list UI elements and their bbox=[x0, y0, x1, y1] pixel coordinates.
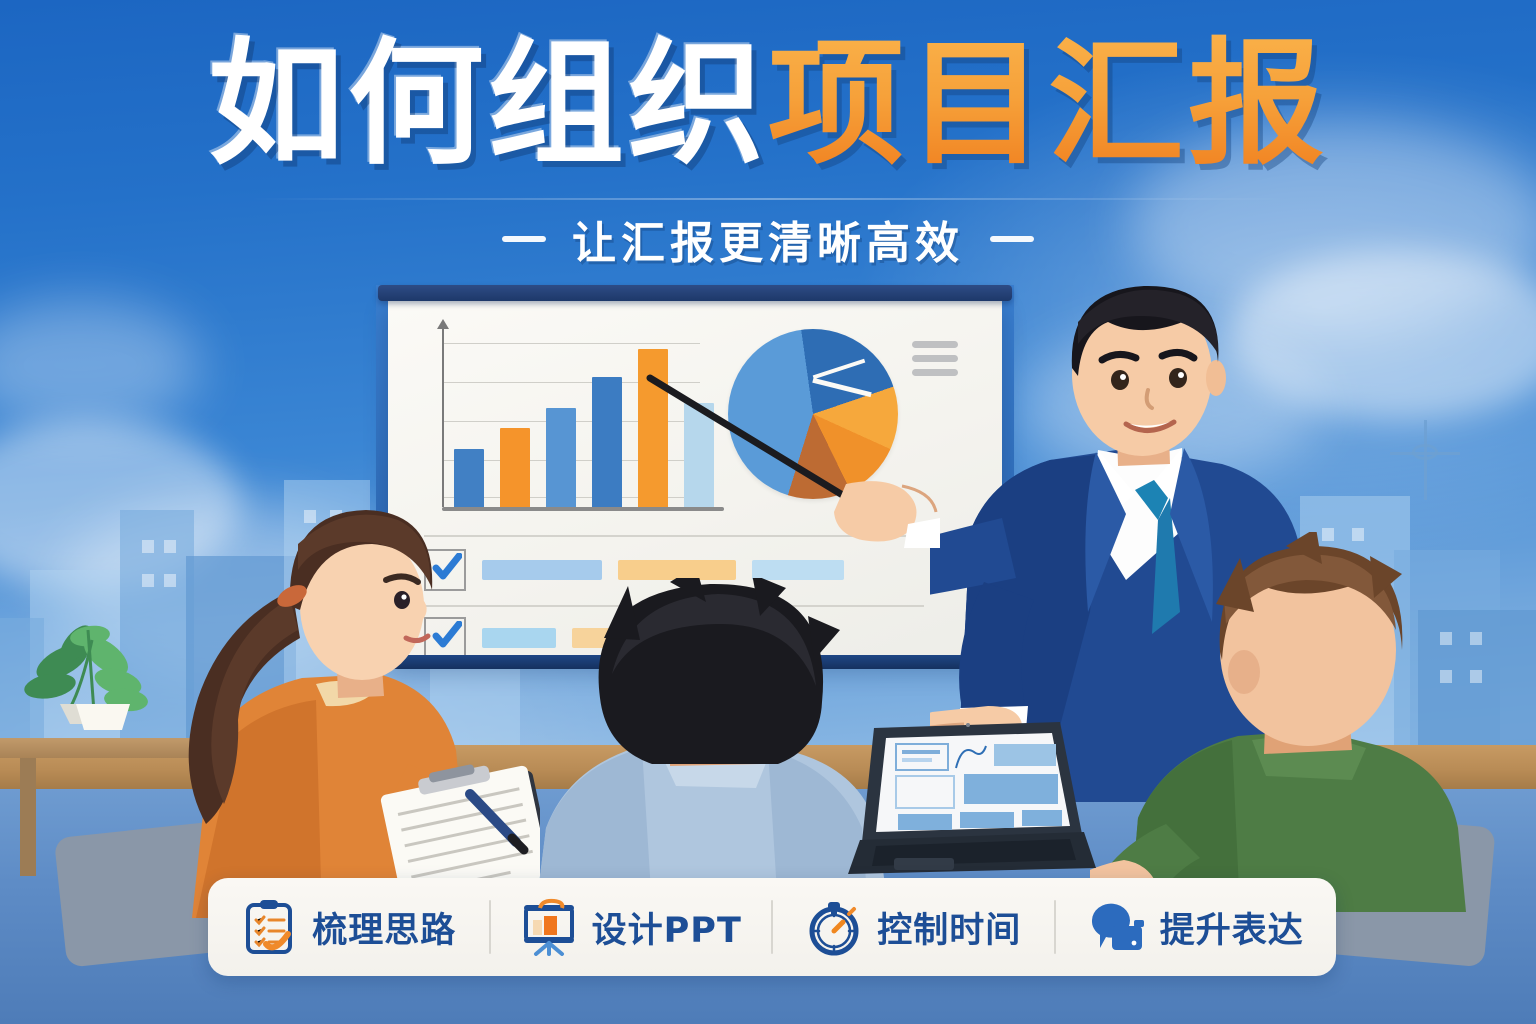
content-bar bbox=[752, 560, 844, 580]
side-table-leg bbox=[20, 756, 36, 876]
stopwatch-icon bbox=[805, 898, 863, 956]
feature-item-1[interactable]: 梳理思路 bbox=[208, 878, 489, 976]
feature-label: 提升表达 bbox=[1160, 902, 1304, 953]
title-white-part: 如何组织 bbox=[208, 26, 768, 184]
poster-canvas: 如何组织项目汇报 让汇报更清晰高效 bbox=[0, 0, 1536, 1024]
clipboard-checklist-icon bbox=[240, 898, 298, 956]
bar-2 bbox=[500, 428, 530, 507]
bar-3 bbox=[546, 408, 576, 507]
feature-label: 梳理思路 bbox=[312, 902, 456, 953]
feature-item-3[interactable]: 控制时间 bbox=[773, 878, 1054, 976]
title-block: 如何组织项目汇报 bbox=[0, 36, 1536, 175]
speech-bubbles-icon bbox=[1088, 898, 1146, 956]
feature-bar: 梳理思路设计PPT控制时间提升表达 bbox=[208, 878, 1336, 976]
window bbox=[1470, 632, 1482, 645]
feature-item-4[interactable]: 提升表达 bbox=[1056, 878, 1337, 976]
antenna-mast-icon bbox=[1424, 420, 1427, 500]
title-orange-part: 项目汇报 bbox=[768, 26, 1328, 184]
y-axis bbox=[442, 327, 444, 507]
page-title: 如何组织项目汇报 bbox=[208, 36, 1328, 175]
laptop-with-dashboard bbox=[846, 722, 1096, 882]
feature-label: 控制时间 bbox=[877, 902, 1021, 953]
seated-woman-with-clipboard bbox=[140, 498, 540, 918]
presentation-easel-icon bbox=[520, 898, 578, 956]
board-top-bar bbox=[378, 285, 1012, 301]
subtitle-dash-left bbox=[502, 236, 546, 242]
feature-item-2[interactable]: 设计PPT bbox=[491, 878, 772, 976]
antenna-ring bbox=[1412, 444, 1438, 460]
pointer-stick-and-hand bbox=[640, 368, 940, 548]
title-divider-rule bbox=[250, 198, 1290, 200]
y-axis-arrow-icon bbox=[437, 319, 449, 329]
seated-man-center bbox=[520, 578, 900, 908]
window bbox=[1470, 670, 1482, 683]
feature-label: 设计PPT bbox=[592, 902, 742, 953]
bar-4 bbox=[592, 377, 622, 507]
subtitle-block: 让汇报更清晰高效 bbox=[0, 207, 1536, 271]
page-subtitle: 让汇报更清晰高效 bbox=[572, 207, 964, 271]
content-bar bbox=[618, 560, 736, 580]
seated-man-with-laptop bbox=[1090, 532, 1470, 912]
subtitle-dash-right bbox=[990, 236, 1034, 242]
